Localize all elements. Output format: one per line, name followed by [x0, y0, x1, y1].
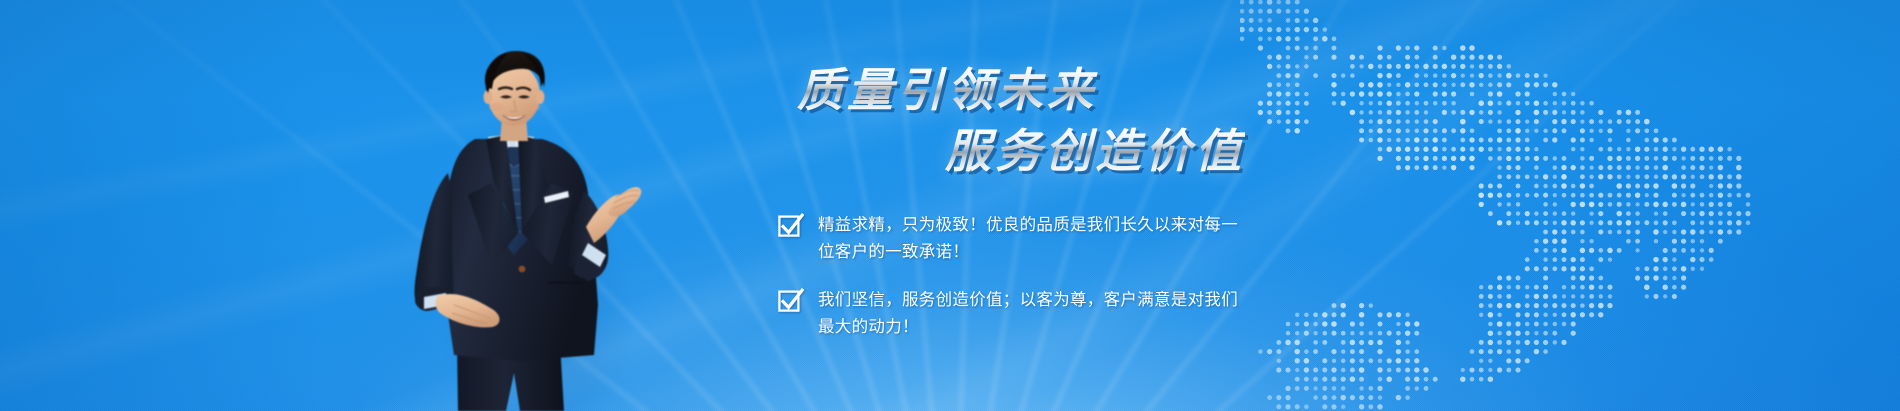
checkbox-checked-icon: [778, 213, 804, 239]
bullet-list: 精益求精，只为极致！优良的品质是我们长久以来对每一位客户的一致承诺！ 我们坚信，…: [778, 212, 1248, 341]
list-item-text: 精益求精，只为极致！优良的品质是我们长久以来对每一位客户的一致承诺！: [818, 212, 1248, 265]
background-vignette: [0, 0, 1900, 411]
list-item-text: 我们坚信，服务创造价值；以客为尊，客户满意是对我们最大的动力！: [818, 287, 1248, 340]
promo-banner: 质量引领未来 服务创造价值 精益求精，只为极致！优良的品质是我们长久以来对每一位…: [0, 0, 1900, 411]
list-item: 我们坚信，服务创造价值；以客为尊，客户满意是对我们最大的动力！: [778, 287, 1248, 340]
checkbox-checked-icon: [778, 288, 804, 314]
businessman-figure: [402, 43, 642, 411]
list-item: 精益求精，只为极致！优良的品质是我们长久以来对每一位客户的一致承诺！: [778, 212, 1248, 265]
